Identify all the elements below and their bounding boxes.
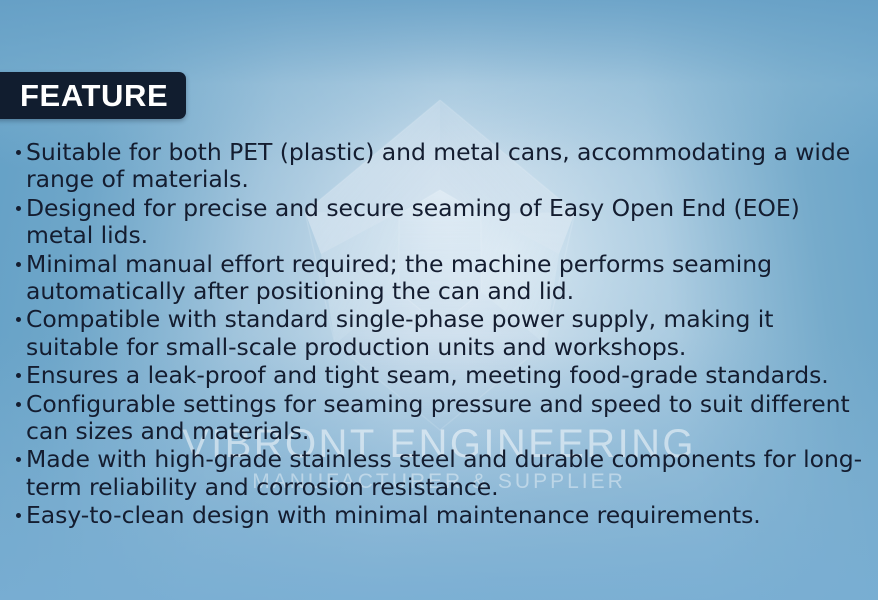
- list-item-text: Configurable settings for seaming pressu…: [26, 391, 865, 446]
- list-item: Made with high-grade stainless steel and…: [13, 446, 865, 501]
- list-item: Ensures a leak-proof and tight seam, mee…: [13, 362, 865, 389]
- list-item-text: Suitable for both PET (plastic) and meta…: [26, 139, 865, 194]
- list-item-text: Made with high-grade stainless steel and…: [26, 446, 865, 501]
- list-item: Configurable settings for seaming pressu…: [13, 391, 865, 446]
- feature-badge: FEATURE: [0, 72, 186, 119]
- feature-list: Suitable for both PET (plastic) and meta…: [13, 139, 865, 531]
- list-item-text: Easy-to-clean design with minimal mainte…: [26, 502, 865, 529]
- list-item-text: Minimal manual effort required; the mach…: [26, 251, 865, 306]
- list-item-text: Compatible with standard single-phase po…: [26, 306, 865, 361]
- list-item: Designed for precise and secure seaming …: [13, 195, 865, 250]
- feature-badge-label: FEATURE: [20, 80, 168, 111]
- list-item: Compatible with standard single-phase po…: [13, 306, 865, 361]
- list-item: Easy-to-clean design with minimal mainte…: [13, 502, 865, 529]
- list-item-text: Designed for precise and secure seaming …: [26, 195, 865, 250]
- list-item: Minimal manual effort required; the mach…: [13, 251, 865, 306]
- list-item-text: Ensures a leak-proof and tight seam, mee…: [26, 362, 865, 389]
- list-item: Suitable for both PET (plastic) and meta…: [13, 139, 865, 194]
- feature-slide: VIBRONT ENGINEERING MANUFACTURER & SUPPL…: [0, 0, 878, 600]
